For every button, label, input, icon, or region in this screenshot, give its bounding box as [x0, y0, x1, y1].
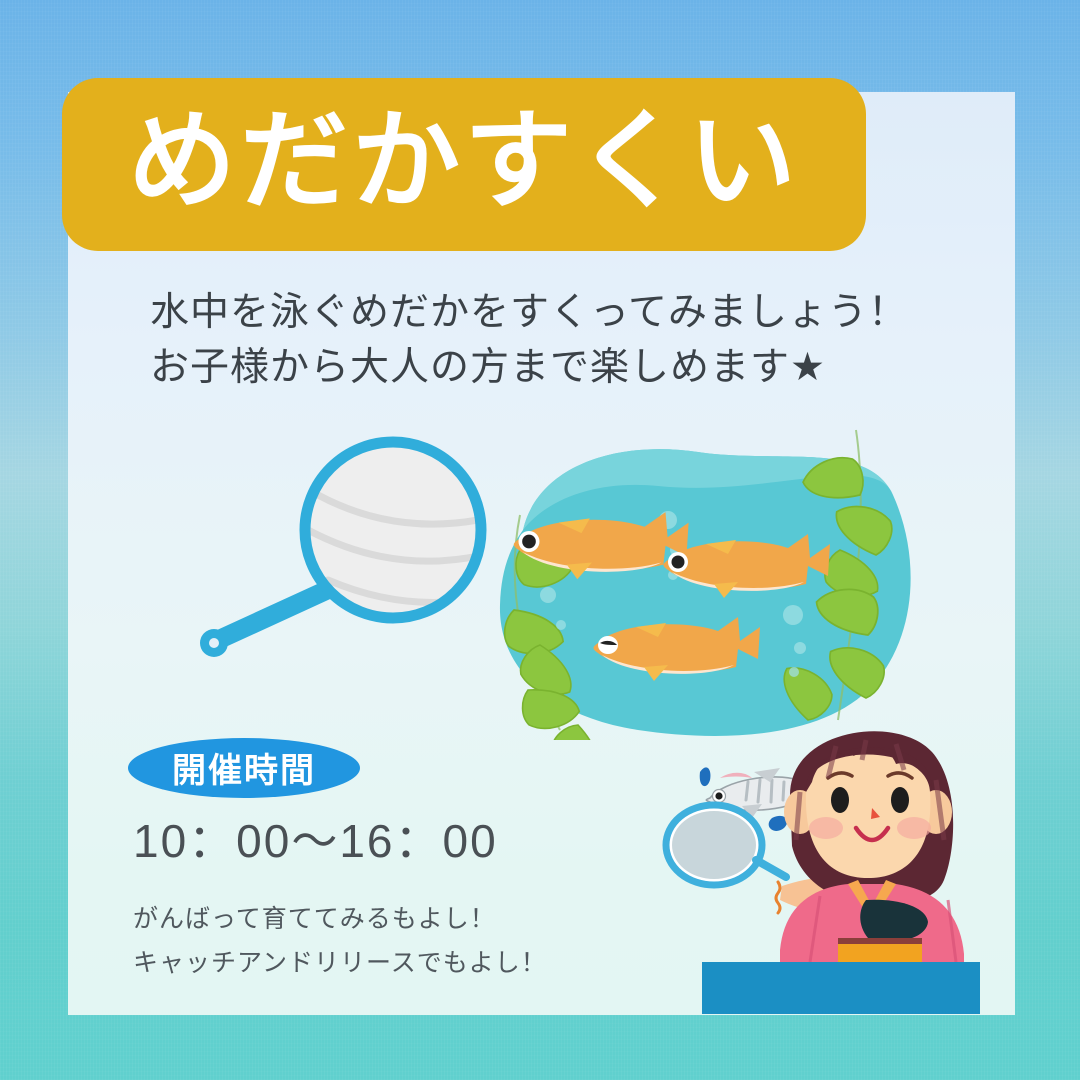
subtitle-block: 水中を泳ぐめだかをすくってみましょう！ お子様から大人の方まで楽しめます★	[150, 285, 950, 396]
time-value: 10：00〜16：00	[133, 805, 498, 871]
time-badge-label: 開催時間	[172, 743, 316, 792]
subtitle-line-1: 水中を泳ぐめだかをすくってみましょう！	[150, 285, 950, 340]
title-banner: めだかすくい	[62, 78, 866, 251]
page-title: めだかすくい	[128, 107, 800, 215]
fish-tank-illustration	[468, 420, 938, 740]
girl-with-poi-illustration	[660, 700, 1020, 1018]
subtitle-line-2: お子様から大人の方まで楽しめます★	[150, 340, 950, 395]
poi-scoop-net-icon	[178, 435, 508, 665]
notes-block: がんばって育ててみるもよし！ キャッチアンドリリースでもよし！	[133, 898, 547, 986]
time-badge: 開催時間	[128, 738, 360, 798]
note-line-1: がんばって育ててみるもよし！	[133, 898, 547, 942]
note-line-2: キャッチアンドリリースでもよし！	[133, 942, 547, 986]
